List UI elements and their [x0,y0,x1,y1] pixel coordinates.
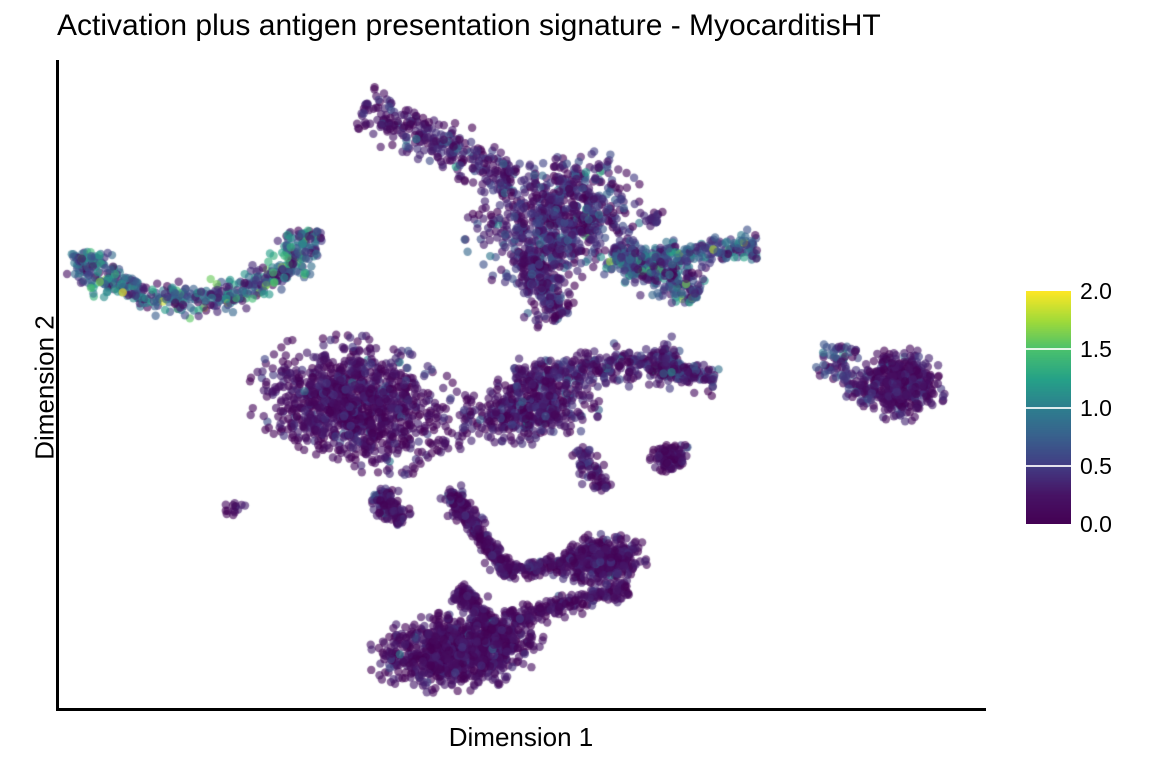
x-axis-label: Dimension 1 [0,722,1042,753]
colorbar-legend: 2.01.51.00.50.0 [1026,286,1146,534]
colorbar-label-1.0: 1.0 [1080,397,1112,420]
colorbar-label-2.0: 2.0 [1080,280,1112,303]
colorbar-tick-0.5 [1026,465,1071,467]
scatter-plot-figure: Activation plus antigen presentation sig… [0,0,1152,768]
scatter-plot-canvas [58,60,986,709]
y-axis-label: Dimension 2 [30,188,61,588]
colorbar-tick-1.0 [1026,407,1071,409]
colorbar-label-0.5: 0.5 [1080,455,1112,478]
colorbar-label-0.0: 0.0 [1080,513,1112,536]
page-title: Activation plus antigen presentation sig… [57,8,881,44]
colorbar-label-1.5: 1.5 [1080,338,1112,361]
colorbar-tick-1.5 [1026,348,1071,350]
x-axis-line [56,708,986,711]
